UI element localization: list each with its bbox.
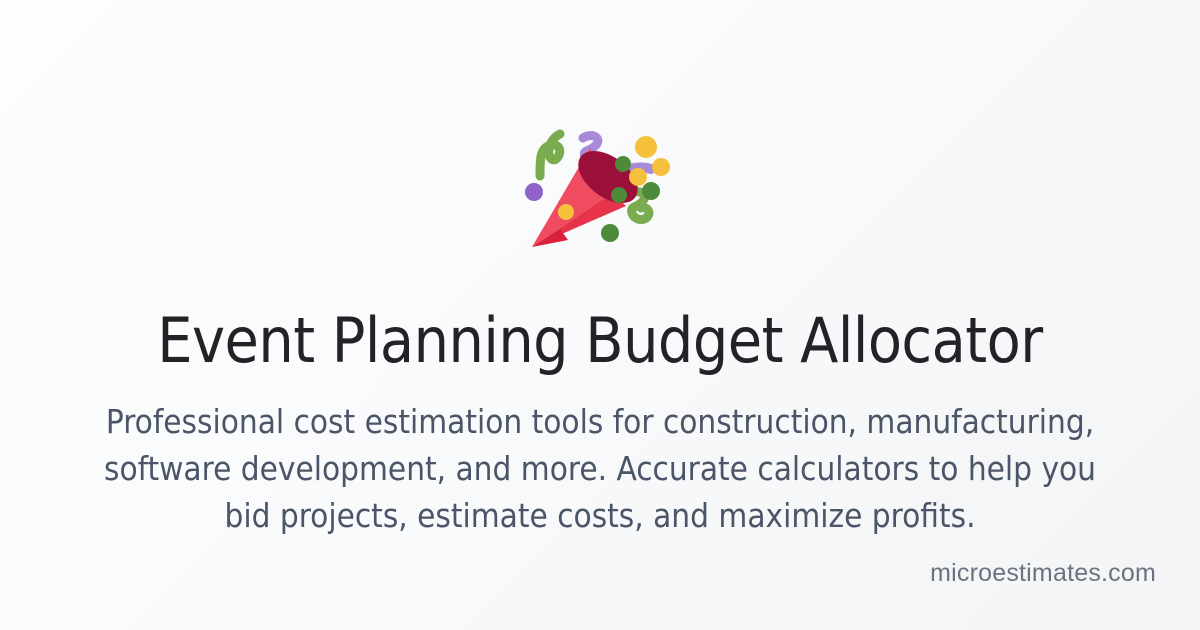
page-title: Event Planning Budget Allocator	[0, 308, 1200, 375]
page-subtitle: Professional cost estimation tools for c…	[80, 399, 1120, 540]
site-domain-label: microestimates.com	[930, 559, 1156, 588]
party-popper-emoji-icon	[520, 120, 680, 260]
og-preview-card: Event Planning Budget Allocator Professi…	[0, 0, 1200, 630]
